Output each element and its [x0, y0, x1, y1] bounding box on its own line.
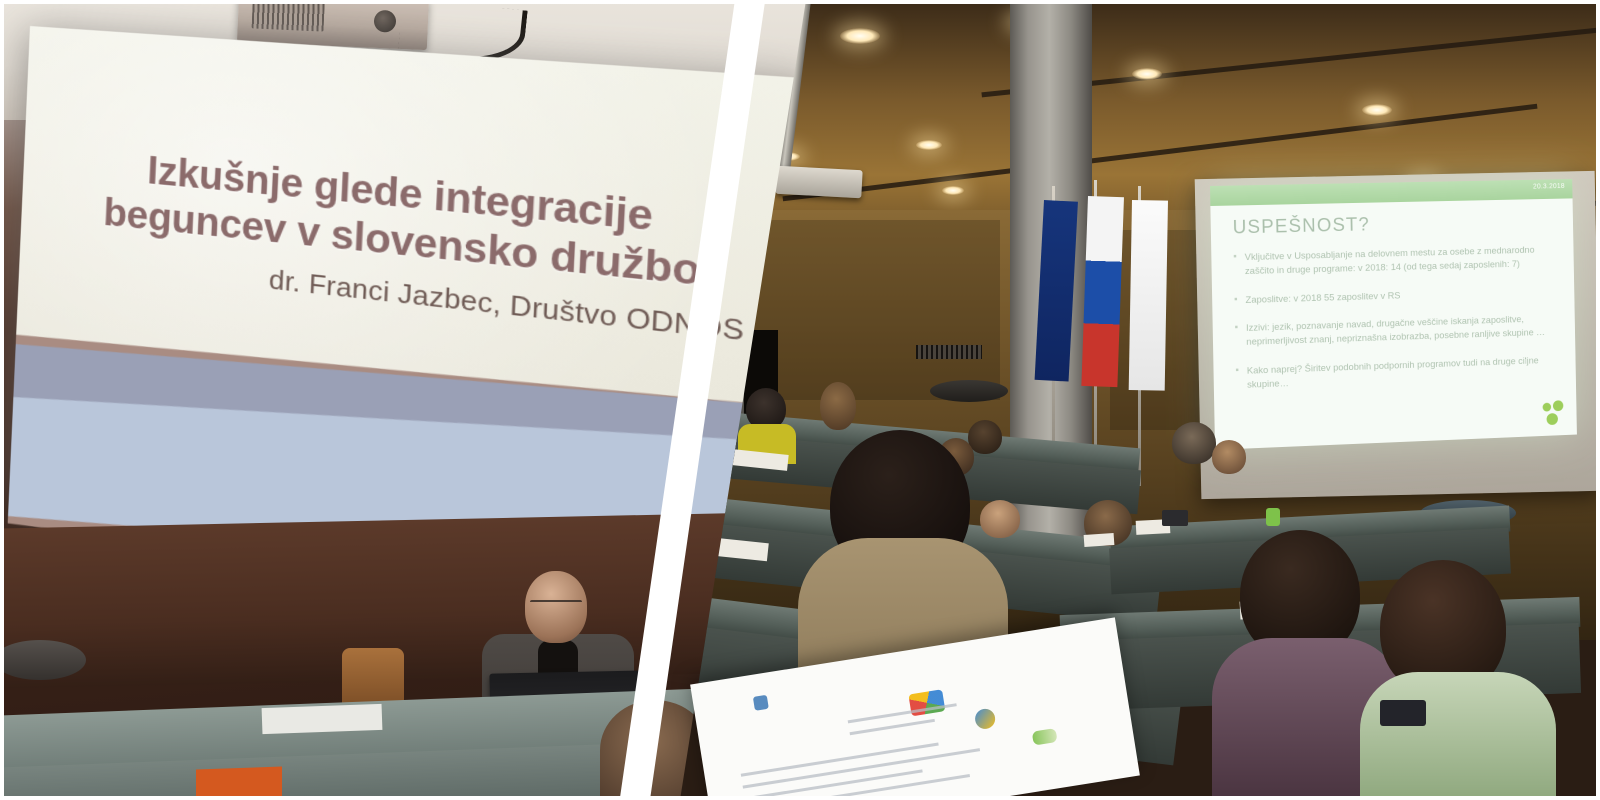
audience-head: [820, 382, 856, 430]
glasses-icon: [530, 600, 582, 611]
slide-right: 20.3.2018 USPEŠNOST? ▪ Vključitve v Uspo…: [1210, 179, 1577, 450]
wall-panel: [740, 220, 1000, 400]
photo-collage: Izkušnje glede integracije beguncev v sl…: [0, 0, 1600, 800]
projector-vent-icon: [252, 0, 325, 32]
green-clover-logo-icon: [1541, 400, 1566, 426]
audience-head: [980, 500, 1020, 538]
orange-object: [196, 766, 282, 800]
slide-bullet: ▪ Vključitve v Usposabljanje na delovnem…: [1233, 243, 1552, 278]
handout-text-line: [848, 703, 957, 723]
foreground-shoulders-3: [1360, 672, 1556, 800]
device-on-desk: [1380, 700, 1426, 726]
slide-title-right: USPEŠNOST?: [1233, 214, 1371, 239]
slide-bullet-text: Zaposlitve: v 2018 55 zaposlitev v RS: [1245, 289, 1400, 307]
wooden-chair: [342, 648, 404, 706]
handout-logo-circle-icon: [974, 707, 997, 730]
slide-bullet: ▪ Izzivi: jezik, poznavanje navad, druga…: [1235, 313, 1554, 350]
slide-bullet: ▪ Zaposlitve: v 2018 55 zaposlitev v RS: [1234, 285, 1553, 308]
paper-on-desk: [1084, 533, 1115, 547]
wood-panel-wall-lower: [0, 511, 812, 688]
slide-bullet-text: Kako naprej? Širitev podobnih podpornih …: [1247, 354, 1555, 392]
institution-flag: [1129, 200, 1168, 391]
ceiling-light-icon: [916, 140, 942, 150]
bullet-dot-icon: ▪: [1234, 294, 1238, 308]
smartphone-on-desk: [1162, 510, 1188, 526]
ceiling-light-icon: [1132, 68, 1162, 80]
slide-bullet-list: ▪ Vključitve v Usposabljanje na delovnem…: [1233, 243, 1554, 407]
handout-text-line: [746, 774, 970, 800]
paper-on-desk: [262, 704, 383, 734]
ceiling-light-icon: [1362, 104, 1392, 116]
green-cup: [1266, 508, 1280, 526]
ceiling-projector-right: [775, 166, 862, 198]
round-table-right: [930, 380, 1008, 402]
wall-vent-icon: [916, 345, 982, 359]
ceiling-light-icon: [942, 186, 964, 195]
bullet-dot-icon: ▪: [1233, 251, 1237, 279]
audience-head: [968, 420, 1002, 454]
projector-lens-icon: [374, 10, 397, 33]
audience-head: [1172, 422, 1216, 464]
handout-text-line: [850, 719, 935, 735]
slide-bullet-text: Vključitve v Usposabljanje na delovnem m…: [1245, 243, 1553, 278]
slide-date: 20.3.2018: [1533, 183, 1565, 190]
slide-bullet: ▪ Kako naprej? Širitev podobnih podporni…: [1235, 354, 1554, 393]
audience-head: [1212, 440, 1246, 474]
slide-bullet-text: Izzivi: jezik, poznavanje navad, drugačn…: [1246, 313, 1554, 350]
handout-logo-green-icon: [1032, 728, 1058, 746]
ceiling-light-icon: [840, 28, 880, 44]
slovenian-flag: [1081, 196, 1124, 387]
bullet-dot-icon: ▪: [1235, 322, 1239, 350]
bullet-dot-icon: ▪: [1235, 365, 1239, 393]
handout-institution-logo-icon: [753, 695, 769, 711]
